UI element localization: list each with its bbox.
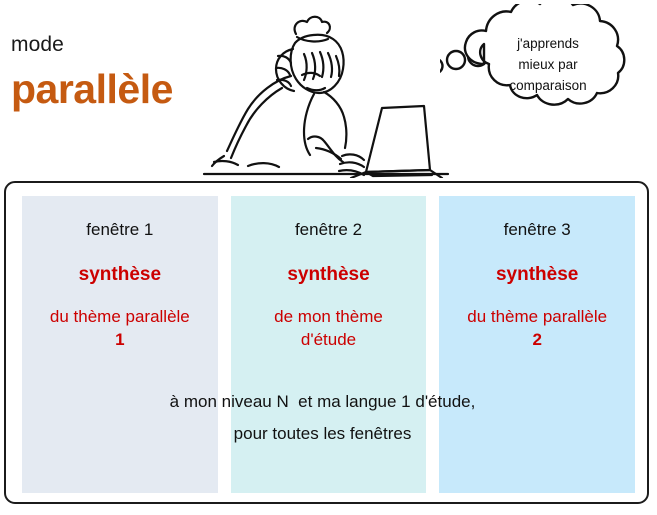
person-studying-at-laptop-icon <box>196 0 456 178</box>
synthesis-label-3: synthèse <box>439 265 635 284</box>
window-column-2[interactable]: fenêtre 2 synthèse de mon thème d'étude <box>231 196 427 493</box>
window-column-1[interactable]: fenêtre 1 synthèse du thème parallèle1 <box>22 196 218 493</box>
mode-label: mode <box>11 34 64 55</box>
window-description-emphasis-1: 1 <box>115 330 124 349</box>
window-columns: fenêtre 1 synthèse du thème parallèle1 f… <box>22 196 635 493</box>
window-label-2: fenêtre 2 <box>231 221 427 238</box>
window-description-text-2: de mon thème d'étude <box>274 307 383 349</box>
window-description-2: de mon thème d'étude <box>231 306 427 352</box>
parallel-mode-panel: fenêtre 1 synthèse du thème parallèle1 f… <box>4 181 649 504</box>
window-description-emphasis-3: 2 <box>532 330 541 349</box>
window-description-1: du thème parallèle1 <box>22 306 218 352</box>
window-label-1: fenêtre 1 <box>22 221 218 238</box>
window-column-3[interactable]: fenêtre 3 synthèse du thème parallèle2 <box>439 196 635 493</box>
window-description-text-3: du thème parallèle <box>467 307 607 326</box>
mode-title: parallèle <box>11 69 173 110</box>
window-description-text-1: du thème parallèle <box>50 307 190 326</box>
synthesis-label-2: synthèse <box>231 265 427 284</box>
thought-bubble-text: j'apprends mieux par comparaison <box>470 34 626 97</box>
window-description-3: du thème parallèle2 <box>439 306 635 352</box>
synthesis-label-1: synthèse <box>22 265 218 284</box>
window-label-3: fenêtre 3 <box>439 221 635 238</box>
header-area: mode parallèle <box>0 0 657 178</box>
